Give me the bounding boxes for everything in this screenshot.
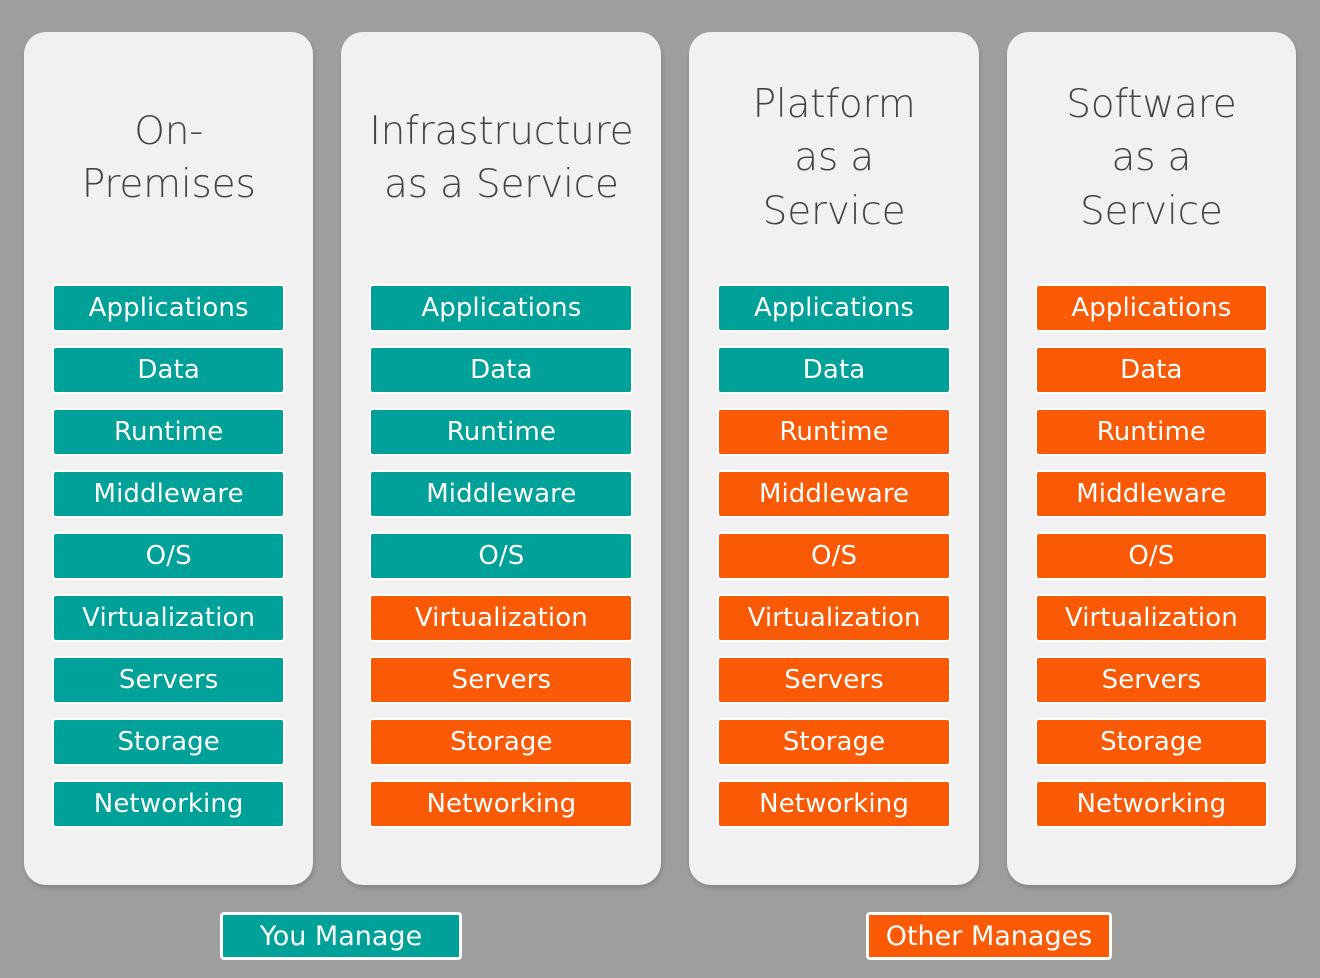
layer-runtime: Runtime	[1035, 408, 1268, 456]
layer-stack: Applications Data Runtime Middleware O/S…	[369, 284, 633, 858]
layer-networking: Networking	[1035, 780, 1268, 828]
layer-virtualization: Virtualization	[369, 594, 633, 642]
layer-stack: Applications Data Runtime Middleware O/S…	[1035, 284, 1268, 858]
layer-networking: Networking	[52, 780, 285, 828]
column-on-premises: On-Premises Applications Data Runtime Mi…	[24, 32, 313, 885]
layer-servers: Servers	[1035, 656, 1268, 704]
layer-middleware: Middleware	[717, 470, 950, 518]
layer-applications: Applications	[52, 284, 285, 332]
layer-applications: Applications	[369, 284, 633, 332]
layer-stack: Applications Data Runtime Middleware O/S…	[717, 284, 950, 858]
layer-os: O/S	[369, 532, 633, 580]
layer-storage: Storage	[52, 718, 285, 766]
layer-runtime: Runtime	[369, 408, 633, 456]
layer-storage: Storage	[369, 718, 633, 766]
column-title: Software as a Service	[1035, 32, 1268, 284]
layer-runtime: Runtime	[52, 408, 285, 456]
layer-runtime: Runtime	[717, 408, 950, 456]
column-title: On-Premises	[52, 32, 285, 284]
layer-data: Data	[717, 346, 950, 394]
layer-applications: Applications	[717, 284, 950, 332]
legend-other-manages: Other Manages	[866, 912, 1112, 960]
layer-networking: Networking	[717, 780, 950, 828]
layer-applications: Applications	[1035, 284, 1268, 332]
column-platform-as-a-service: Platform as a Service Applications Data …	[689, 32, 978, 885]
layer-middleware: Middleware	[52, 470, 285, 518]
layer-servers: Servers	[52, 656, 285, 704]
column-title: Infrastructure as a Service	[369, 32, 633, 284]
layer-os: O/S	[52, 532, 285, 580]
legend: You Manage Other Manages	[0, 912, 1320, 962]
column-infrastructure-as-a-service: Infrastructure as a Service Applications…	[341, 32, 661, 885]
layer-os: O/S	[1035, 532, 1268, 580]
service-model-columns: On-Premises Applications Data Runtime Mi…	[24, 32, 1296, 885]
layer-middleware: Middleware	[369, 470, 633, 518]
layer-virtualization: Virtualization	[717, 594, 950, 642]
layer-middleware: Middleware	[1035, 470, 1268, 518]
layer-stack: Applications Data Runtime Middleware O/S…	[52, 284, 285, 858]
layer-virtualization: Virtualization	[1035, 594, 1268, 642]
layer-storage: Storage	[717, 718, 950, 766]
layer-data: Data	[369, 346, 633, 394]
column-title: Platform as a Service	[717, 32, 950, 284]
layer-data: Data	[52, 346, 285, 394]
column-software-as-a-service: Software as a Service Applications Data …	[1007, 32, 1296, 885]
layer-servers: Servers	[369, 656, 633, 704]
layer-os: O/S	[717, 532, 950, 580]
layer-virtualization: Virtualization	[52, 594, 285, 642]
layer-storage: Storage	[1035, 718, 1268, 766]
layer-networking: Networking	[369, 780, 633, 828]
legend-you-manage: You Manage	[220, 912, 462, 960]
layer-servers: Servers	[717, 656, 950, 704]
layer-data: Data	[1035, 346, 1268, 394]
